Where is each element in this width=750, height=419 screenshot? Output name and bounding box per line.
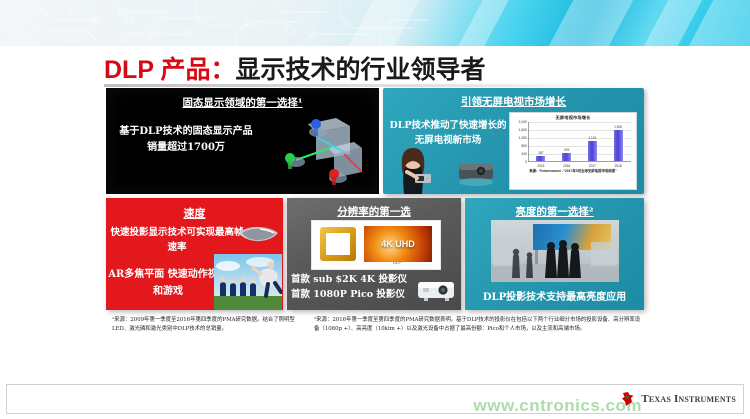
chart-gridline	[528, 122, 631, 123]
footnote-2: ²来源：2016年第一季度至第四季度的PMA研究数据表明。基于DLP技术的投影仪…	[314, 316, 644, 334]
chart-x-axis-labels: 2015 2016 2017 2018	[528, 164, 631, 168]
tv-market-chart-card: 无屏电视市场增长 0 400 800 1,200 1,600 2,000	[509, 112, 637, 190]
site-watermark: www.cntronics.com	[474, 396, 642, 416]
panel-solid-state-body: 基于DLP技术的固态显示产品销量超过1700万	[116, 124, 256, 156]
chart-bar: 476	[562, 153, 571, 161]
panel-solid-state-heading: 固态显示领域的第一选择¹	[106, 95, 379, 110]
y-tick-label: 800	[521, 144, 527, 148]
header-banner-graphic	[0, 0, 750, 46]
chart-bars: 287 476 1,151 1,800	[528, 127, 631, 161]
white-projector-icon	[415, 276, 459, 304]
sports-action-photo	[214, 254, 282, 310]
ti-company-name: Texas Instruments	[641, 393, 736, 405]
chart-y-axis: 0 400 800 1,200 1,600 2,000	[513, 122, 528, 162]
panel-speed-heading: 速度	[106, 205, 283, 221]
presenter-woman-icon	[389, 146, 437, 194]
banner-shard	[540, 0, 639, 46]
y-tick-label: 1,200	[519, 136, 528, 140]
y-tick-label: 0	[525, 160, 527, 164]
bar-value-label: 476	[564, 148, 569, 152]
dlp-chip-icon	[320, 227, 356, 261]
uhd-badge-label: 4K UHD	[381, 239, 415, 249]
uhd-screen-image: 4K UHD	[364, 226, 432, 262]
digital-billboard-photo	[491, 220, 619, 282]
y-tick-label: 2,000	[519, 120, 528, 124]
bar-value-label: 1,151	[588, 136, 596, 140]
bar-value-label: 287	[538, 151, 543, 155]
panel-tv-market[interactable]: 引领无屏电视市场增长 DLP技术推动了快速增长的无屏电视新市场 无屏电视市场增长	[383, 88, 644, 194]
x-tick-label: 2015	[537, 164, 544, 168]
ar-glasses-icon	[236, 224, 280, 246]
title-underline-divider	[104, 84, 622, 87]
chart-bar: 1,151	[588, 141, 597, 161]
y-tick-label: 400	[521, 152, 527, 156]
y-tick-label: 1,600	[519, 128, 528, 132]
chart-axis-line	[528, 161, 631, 162]
page-title-dark: 显示技术的行业领导者	[236, 55, 486, 84]
ti-logo: Texas Instruments	[620, 391, 736, 407]
panel-resolution-heading: 分辨率的第一选	[287, 204, 461, 219]
chart-bar: 1,800	[614, 130, 623, 161]
rgb-prism-icon	[258, 114, 376, 190]
panel-speed-body-2: AR多焦平面 快速动作视频和游戏	[108, 266, 228, 300]
panel-resolution-body: 首款 sub $2K 4K 投影仪 首款 1080P Pico 投影仪	[291, 272, 417, 302]
banner-shard	[450, 0, 516, 46]
page-title: DLP 产品：显示技术的行业领导者	[104, 50, 704, 84]
panel-speed[interactable]: 速度 快速投影显示技术可实现最高帧速率 AR多焦平面 快速动作视频和游戏	[106, 198, 283, 310]
x-tick-label: 2018	[615, 164, 622, 168]
panel-tv-market-body: DLP技术推动了快速增长的无屏电视新市场	[389, 118, 507, 148]
resolution-tv-card: 4K UHD DLP	[311, 220, 441, 270]
projector-icon	[455, 160, 497, 188]
panel-speed-body-1: 快速投影显示技术可实现最高帧速率	[108, 225, 246, 255]
bar-value-label: 1,800	[614, 125, 622, 129]
resolution-line-2: 首款 1080P Pico 投影仪	[291, 287, 417, 302]
panel-tv-market-heading: 引领无屏电视市场增长	[383, 94, 644, 109]
slide-canvas: DLP 产品：显示技术的行业领导者 固态显示领域的第一选择¹ 基于DLP技术的固…	[0, 0, 750, 419]
chart-title: 无屏电视市场增长	[513, 115, 633, 121]
chart-source-note: 来源：Futuresource -“2017年5月全球无屏电视市场简报”	[513, 169, 633, 174]
panel-brightness-body: DLP投影技术支持最高亮度应用	[465, 288, 644, 303]
page-title-red: DLP 产品：	[104, 56, 236, 84]
x-tick-label: 2017	[589, 164, 596, 168]
footnote-1: ¹来源：2009年第一季度至2016年第四季度的PMA研究数据。结合了照明型LE…	[112, 316, 312, 334]
panel-brightness[interactable]: 亮度的第一选择²	[465, 198, 644, 310]
resolution-line-1: 首款 sub $2K 4K 投影仪	[291, 272, 417, 287]
ti-texas-logo-icon	[620, 391, 636, 407]
panel-grid: 固态显示领域的第一选择¹ 基于DLP技术的固态显示产品销量超过1700万	[106, 88, 644, 310]
dlp-logo-mark: DLP	[384, 258, 410, 267]
x-tick-label: 2016	[563, 164, 570, 168]
chart-bar: 287	[536, 156, 545, 161]
panel-solid-state[interactable]: 固态显示领域的第一选择¹ 基于DLP技术的固态显示产品销量超过1700万	[106, 88, 379, 194]
panel-brightness-heading: 亮度的第一选择²	[465, 204, 644, 219]
chart-plot-area: 0 400 800 1,200 1,600 2,000 2	[513, 122, 633, 168]
panel-resolution[interactable]: 分辨率的第一选 4K UHD DLP 首款 sub $2K 4K 投影仪 首款 …	[287, 198, 461, 310]
